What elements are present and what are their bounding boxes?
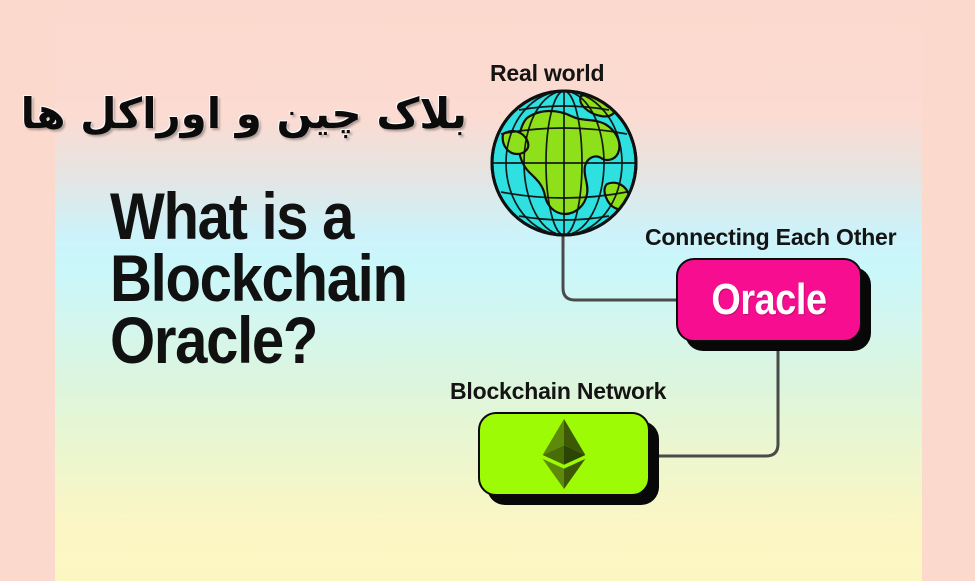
page-title: What is a Blockchain Oracle? — [110, 185, 462, 371]
oracle-node[interactable]: Oracle — [676, 258, 862, 342]
poster-canvas: بلاک چین و اوراکل ها What is a Blockchai… — [0, 0, 975, 581]
globe-icon — [489, 88, 639, 238]
persian-subtitle: بلاک چین و اوراکل ها — [55, 93, 467, 135]
connecting-each-other-label: Connecting Each Other — [645, 224, 896, 251]
real-world-label: Real world — [490, 60, 604, 87]
page-title-line-3: Oracle? — [110, 309, 462, 371]
page-title-line-2: Blockchain — [110, 247, 462, 309]
blockchain-network-label: Blockchain Network — [450, 378, 666, 405]
blockchain-network-node[interactable] — [478, 412, 650, 496]
page-title-line-1: What is a — [110, 185, 462, 247]
oracle-node-label: Oracle — [711, 275, 826, 325]
ethereum-icon — [541, 419, 587, 489]
